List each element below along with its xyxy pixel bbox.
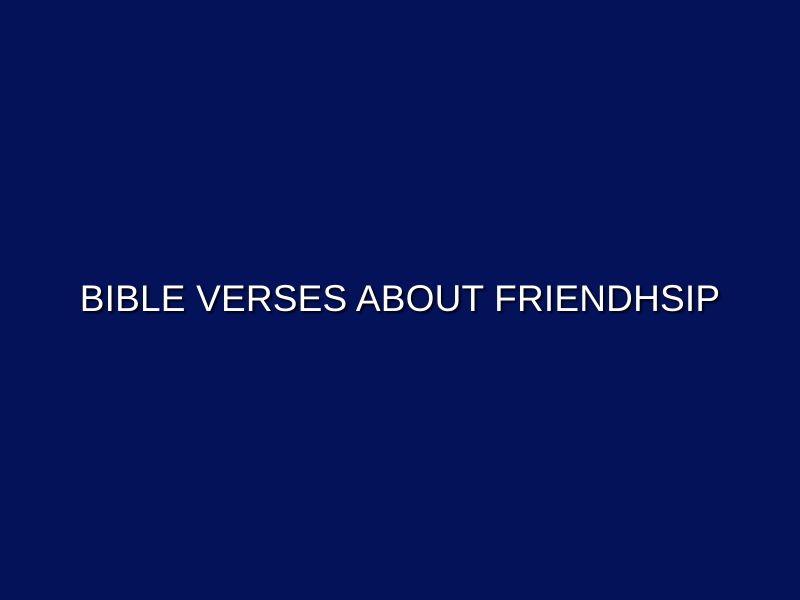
page-title: BIBLE VERSES ABOUT FRIENDHSIP <box>80 280 720 321</box>
slide-canvas: BIBLE VERSES ABOUT FRIENDHSIP <box>0 0 800 600</box>
title-block: BIBLE VERSES ABOUT FRIENDHSIP <box>0 0 800 600</box>
